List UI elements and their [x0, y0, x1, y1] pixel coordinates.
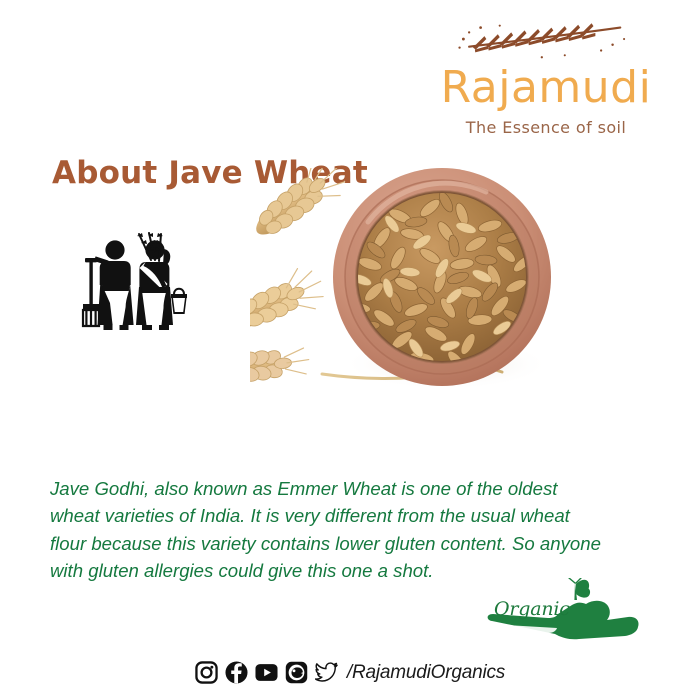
poster-canvas: Rajamudi The Essence of soil About Jave …: [0, 0, 700, 700]
farmers-pictogram-icon: [75, 232, 187, 332]
facebook-icon[interactable]: [225, 661, 248, 684]
organic-badge: Organic: [480, 578, 650, 640]
social-bar: /RajamudiOrganics: [0, 661, 700, 684]
brand-name: Rajamudi: [416, 64, 676, 112]
organic-label: Organic: [494, 598, 570, 620]
wheat-sprig-icon: [450, 18, 641, 62]
koo-icon[interactable]: [285, 661, 308, 684]
brand-tagline: The Essence of soil: [416, 118, 676, 137]
youtube-icon[interactable]: [255, 661, 278, 684]
social-handle[interactable]: /RajamudiOrganics: [347, 662, 505, 684]
terracotta-bowl: [333, 168, 551, 386]
brand-logo: Rajamudi The Essence of soil: [416, 18, 676, 137]
body-paragraph: Jave Godhi, also known as Emmer Wheat is…: [50, 475, 610, 585]
instagram-icon[interactable]: [195, 661, 218, 684]
twitter-icon[interactable]: [315, 661, 338, 684]
wheat-grains-terracotta-bowl-photo: [250, 168, 580, 458]
